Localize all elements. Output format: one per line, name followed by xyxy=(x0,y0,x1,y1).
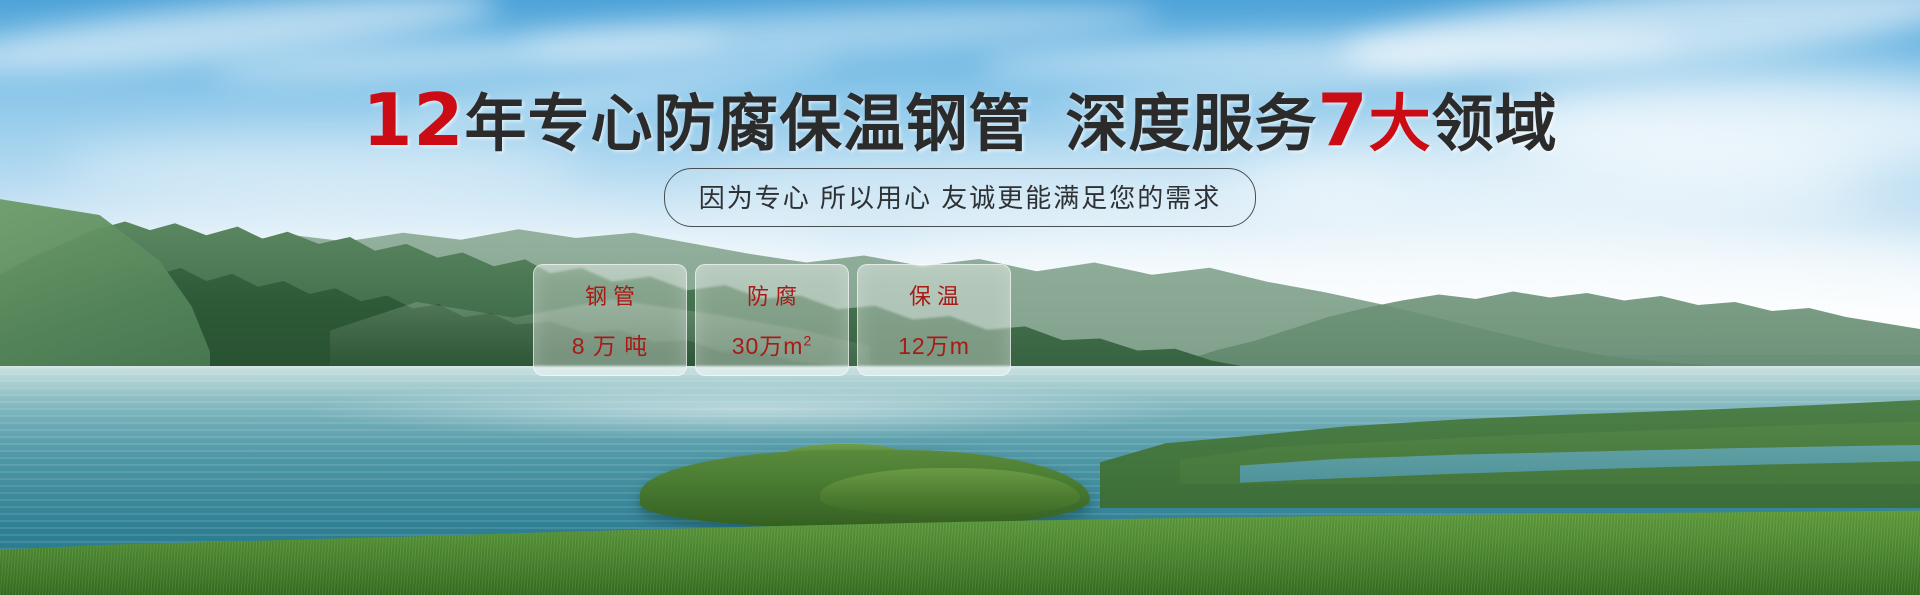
stat-card-insulation[interactable]: 保温 12万m xyxy=(857,264,1011,376)
stat-card-value: 8 万 吨 xyxy=(572,327,649,361)
headline-fields-number: 7 xyxy=(1318,78,1369,162)
headline-part-two: 深度服务 xyxy=(1066,90,1318,159)
stat-card-title: 保温 xyxy=(903,279,965,311)
tagline-pill: 因为专心 所以用心 友诚更能满足您的需求 xyxy=(664,168,1256,227)
grass-island-secondary xyxy=(820,468,1080,516)
stat-card-title: 防腐 xyxy=(741,279,803,311)
headline-part-one: 年专心防腐保温钢管 xyxy=(465,90,1032,159)
headline-part-three: 领域 xyxy=(1432,90,1558,159)
hero-banner: 12年专心防腐保温钢管深度服务7大领域 因为专心 所以用心 友诚更能满足您的需求… xyxy=(0,0,1920,595)
stat-card-title: 钢管 xyxy=(579,279,641,311)
headline-red-suffix: 大 xyxy=(1369,90,1432,159)
stat-card-value: 12万m xyxy=(898,327,970,361)
banner-headline: 12年专心防腐保温钢管深度服务7大领域 xyxy=(0,84,1920,156)
stat-card-value-text: 8 万 吨 xyxy=(572,333,649,359)
headline-years-number: 12 xyxy=(362,78,464,162)
stat-card-value-text: 30万m xyxy=(732,333,804,359)
water-glint xyxy=(300,380,1200,440)
stat-card-anticorrosion[interactable]: 防腐 30万m2 xyxy=(695,264,849,376)
stat-card-unit-superscript: 2 xyxy=(803,332,812,348)
stat-card-list: 钢管 8 万 吨 防腐 30万m2 保温 12万m xyxy=(533,264,1011,376)
stat-card-value-text: 12万m xyxy=(898,333,970,359)
stat-card-steel-pipe[interactable]: 钢管 8 万 吨 xyxy=(533,264,687,376)
stat-card-value: 30万m2 xyxy=(732,327,813,361)
tagline-container: 因为专心 所以用心 友诚更能满足您的需求 xyxy=(0,168,1920,227)
